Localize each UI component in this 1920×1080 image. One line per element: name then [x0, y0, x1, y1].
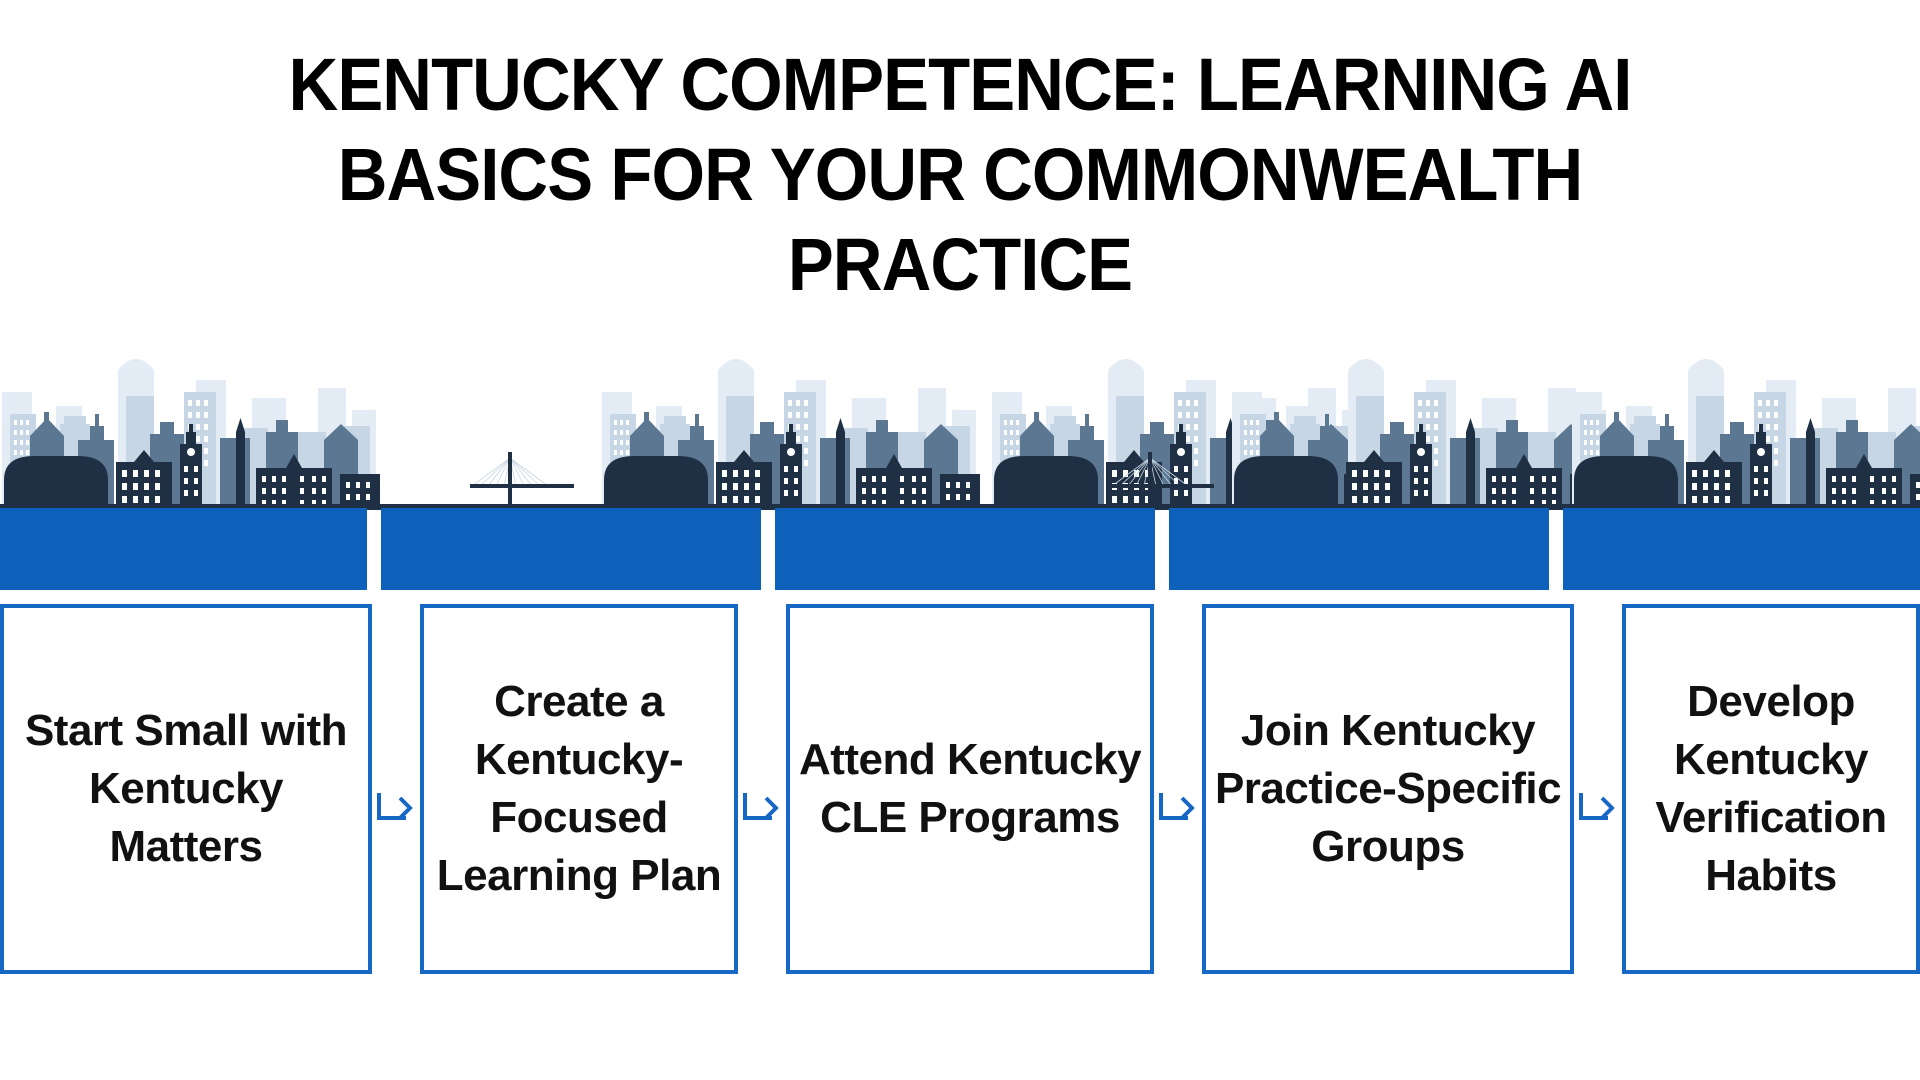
page-title-line-1: KENTUCKY COMPETENCE: LEARNING AI	[151, 40, 1769, 130]
step-card-4[interactable]: Join Kentucky Practice-Specific Groups	[1202, 604, 1574, 974]
skyline-tile-5	[1572, 359, 1920, 510]
page-title: KENTUCKY COMPETENCE: LEARNING AI BASICS …	[0, 40, 1920, 310]
skyline-tile-4	[1232, 359, 1610, 510]
blue-band-segment	[1169, 508, 1549, 590]
blue-band-segment	[0, 508, 367, 590]
infographic-root: KENTUCKY COMPETENCE: LEARNING AI BASICS …	[0, 0, 1920, 1080]
page-title-line-2: BASICS FOR YOUR COMMONWEALTH	[151, 130, 1769, 220]
step-label-4: Join Kentucky Practice-Specific Groups	[1214, 702, 1562, 876]
skyline-tile-2	[602, 359, 980, 510]
arrow-right-icon	[1578, 790, 1618, 824]
steps-row: Start Small with Kentucky Matters Create…	[0, 604, 1920, 974]
page-title-line-3: PRACTICE	[151, 220, 1769, 310]
arrow-right-icon	[742, 790, 782, 824]
step-connector-1	[372, 604, 420, 974]
step-label-2: Create a Kentucky-Focused Learning Plan	[432, 673, 726, 905]
step-connector-4	[1574, 604, 1622, 974]
city-skyline-banner	[0, 340, 1920, 510]
blue-band-segment	[381, 508, 761, 590]
step-card-5[interactable]: Develop Kentucky Verification Habits	[1622, 604, 1920, 974]
step-card-1[interactable]: Start Small with Kentucky Matters	[0, 604, 372, 974]
blue-band	[0, 508, 1920, 590]
step-label-5: Develop Kentucky Verification Habits	[1634, 673, 1908, 905]
step-card-2[interactable]: Create a Kentucky-Focused Learning Plan	[420, 604, 738, 974]
step-connector-3	[1154, 604, 1202, 974]
step-connector-2	[738, 604, 786, 974]
blue-band-segment	[1563, 508, 1920, 590]
step-card-3[interactable]: Attend Kentucky CLE Programs	[786, 604, 1154, 974]
step-label-3: Attend Kentucky CLE Programs	[798, 731, 1142, 847]
arrow-right-icon	[1158, 790, 1198, 824]
blue-band-segment	[775, 508, 1155, 590]
step-label-1: Start Small with Kentucky Matters	[12, 702, 360, 876]
skyline-bridge-1	[470, 452, 574, 506]
skyline-tile-1	[2, 359, 380, 510]
arrow-right-icon	[376, 790, 416, 824]
